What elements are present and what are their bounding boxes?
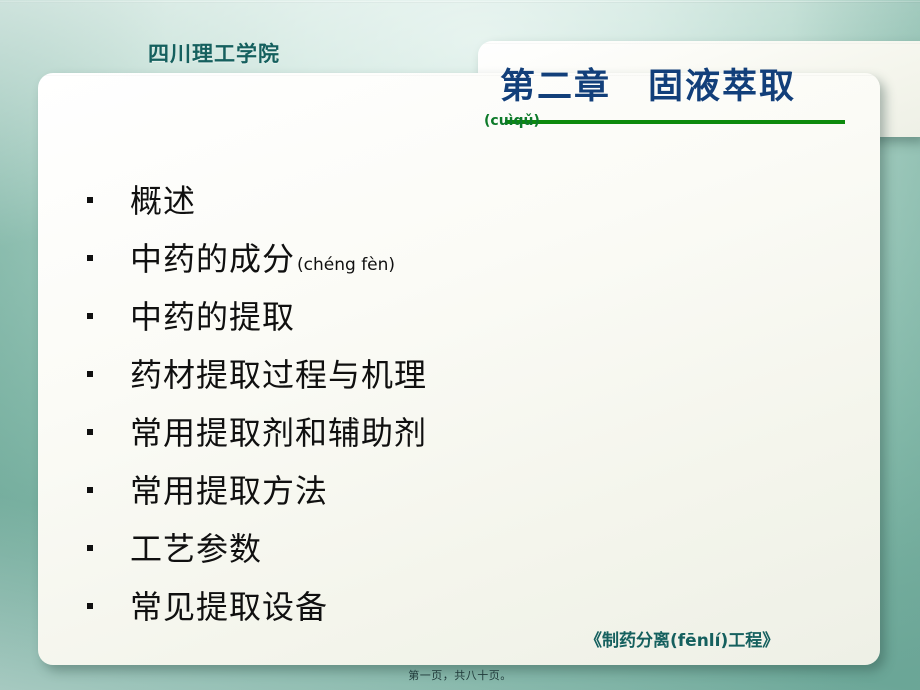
bullet-square-icon	[70, 594, 130, 613]
page-indicator: 第一页，共八十页。	[0, 667, 920, 683]
list-item-label: 常见提取设备	[130, 582, 328, 628]
bullet-square-icon	[70, 304, 130, 323]
bullet-square-icon	[70, 246, 130, 265]
presentation-slide: 四川理工学院 第二章 固液萃取 (cuìqǔ) 概述 中药的成分(chéng f…	[0, 0, 920, 690]
list-item-label: 中药的提取	[130, 292, 295, 338]
list-item: 常用提取方法	[70, 466, 670, 524]
university-name: 四川理工学院	[148, 38, 280, 68]
bullet-square-icon	[70, 420, 130, 439]
list-item: 中药的提取	[70, 292, 670, 350]
list-item: 概述	[70, 176, 670, 234]
chapter-title-block: 第二章 固液萃取	[500, 68, 900, 107]
page-title: 第二章 固液萃取	[500, 68, 900, 107]
bullet-square-icon	[70, 188, 130, 207]
list-item: 常用提取剂和辅助剂	[70, 408, 670, 466]
bullet-square-icon	[70, 536, 130, 555]
list-item-label: 药材提取过程与机理	[130, 350, 427, 396]
list-item-label: 工艺参数	[130, 524, 262, 570]
list-item: 常见提取设备	[70, 582, 670, 640]
outline-list: 概述 中药的成分(chéng fèn) 中药的提取 药材提取过程与机理 常用提取…	[70, 176, 670, 640]
list-item-label: 概述	[130, 176, 196, 222]
list-item: 药材提取过程与机理	[70, 350, 670, 408]
list-item-pinyin: (chéng fèn)	[297, 255, 395, 275]
book-title-footer: 《制药分离(fēnlí)工程》	[585, 626, 779, 651]
list-item-label: 中药的成分	[130, 234, 295, 280]
list-item: 中药的成分(chéng fèn)	[70, 234, 670, 292]
title-underline	[505, 120, 845, 124]
title-pinyin: (cuìqǔ)	[484, 113, 540, 129]
bullet-square-icon	[70, 362, 130, 381]
list-item-label: 常用提取剂和辅助剂	[130, 408, 427, 454]
list-item-label: 常用提取方法	[130, 466, 328, 512]
list-item: 工艺参数	[70, 524, 670, 582]
bullet-square-icon	[70, 478, 130, 497]
